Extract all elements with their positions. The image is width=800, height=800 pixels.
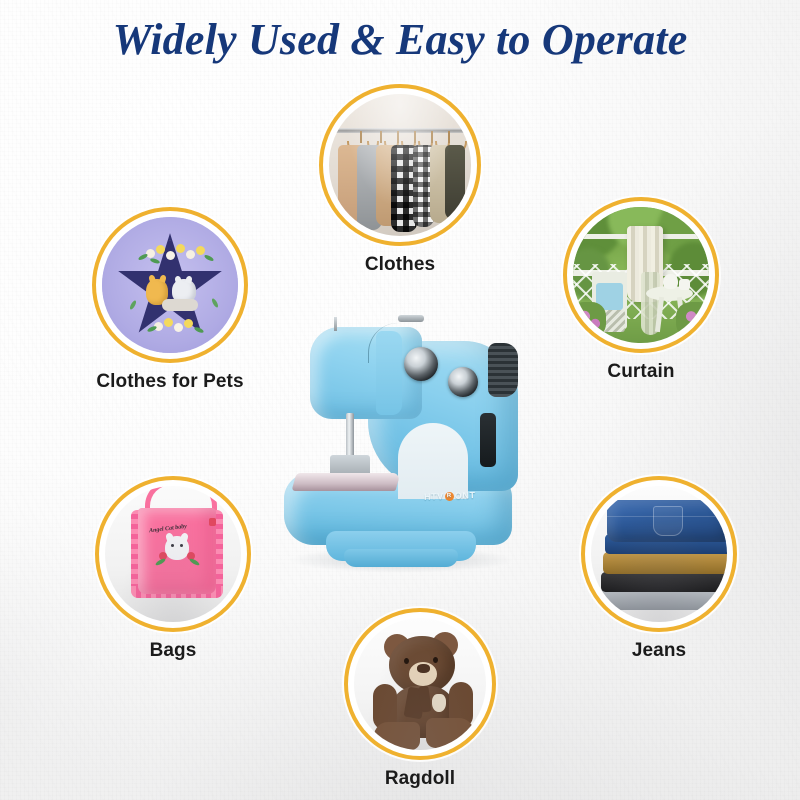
- feature-clothes-ring: [319, 84, 481, 246]
- feature-ragdoll-photo: [354, 618, 486, 750]
- feature-curtain-ring: [563, 197, 719, 353]
- feature-clothes-photo: [329, 94, 471, 236]
- feature-bags-photo: Angel Cat baby: [105, 486, 241, 622]
- infographic-canvas: Widely Used & Easy to Operate: [0, 0, 800, 800]
- feature-curtain-label: Curtain: [546, 362, 736, 383]
- needle-bar: [346, 413, 354, 461]
- bobbin-winder-pin: [334, 317, 337, 331]
- feature-jeans[interactable]: Jeans: [564, 476, 754, 662]
- feature-jeans-photo: [591, 486, 727, 622]
- feature-jeans-ring: [581, 476, 737, 632]
- hand-wheel[interactable]: [488, 343, 518, 397]
- feature-ragdoll-ring: [344, 608, 496, 760]
- feature-ragdoll[interactable]: Ragdoll: [325, 608, 515, 790]
- feature-clothes-for-pets[interactable]: Clothes for Pets: [75, 207, 265, 393]
- brand-logo: HTV R ONT: [424, 490, 476, 502]
- feature-bags[interactable]: Angel Cat baby Bags: [78, 476, 268, 662]
- feature-bags-ring: Angel Cat baby: [95, 476, 251, 632]
- feature-clothes-label: Clothes: [305, 255, 495, 276]
- feature-clothes-for-pets-label: Clothes for Pets: [75, 372, 265, 393]
- brand-logo-suffix: ONT: [455, 490, 476, 501]
- brand-logo-prefix: HTV: [424, 491, 444, 502]
- power-switch[interactable]: [480, 413, 496, 467]
- page-title: Widely Used & Easy to Operate: [0, 14, 800, 65]
- stitch-selector-dial[interactable]: [448, 367, 478, 397]
- feature-clothes-for-pets-ring: [92, 207, 248, 363]
- feature-curtain[interactable]: Curtain: [546, 197, 736, 383]
- machine-arm-opening: [398, 423, 468, 499]
- needle-plate: [291, 473, 400, 491]
- feature-curtain-photo: [573, 207, 709, 343]
- feature-bags-label: Bags: [78, 641, 268, 662]
- feature-jeans-label: Jeans: [564, 641, 754, 662]
- tension-dial[interactable]: [404, 347, 438, 381]
- brand-logo-mark: R: [445, 491, 454, 500]
- feature-ragdoll-label: Ragdoll: [325, 769, 515, 790]
- feature-clothes[interactable]: Clothes: [305, 84, 495, 276]
- product-sewing-machine[interactable]: HTV R ONT: [272, 305, 528, 577]
- machine-pedestal-lower: [344, 549, 458, 567]
- feature-clothes-for-pets-photo: [102, 217, 238, 353]
- spool-pin-holder: [398, 315, 424, 322]
